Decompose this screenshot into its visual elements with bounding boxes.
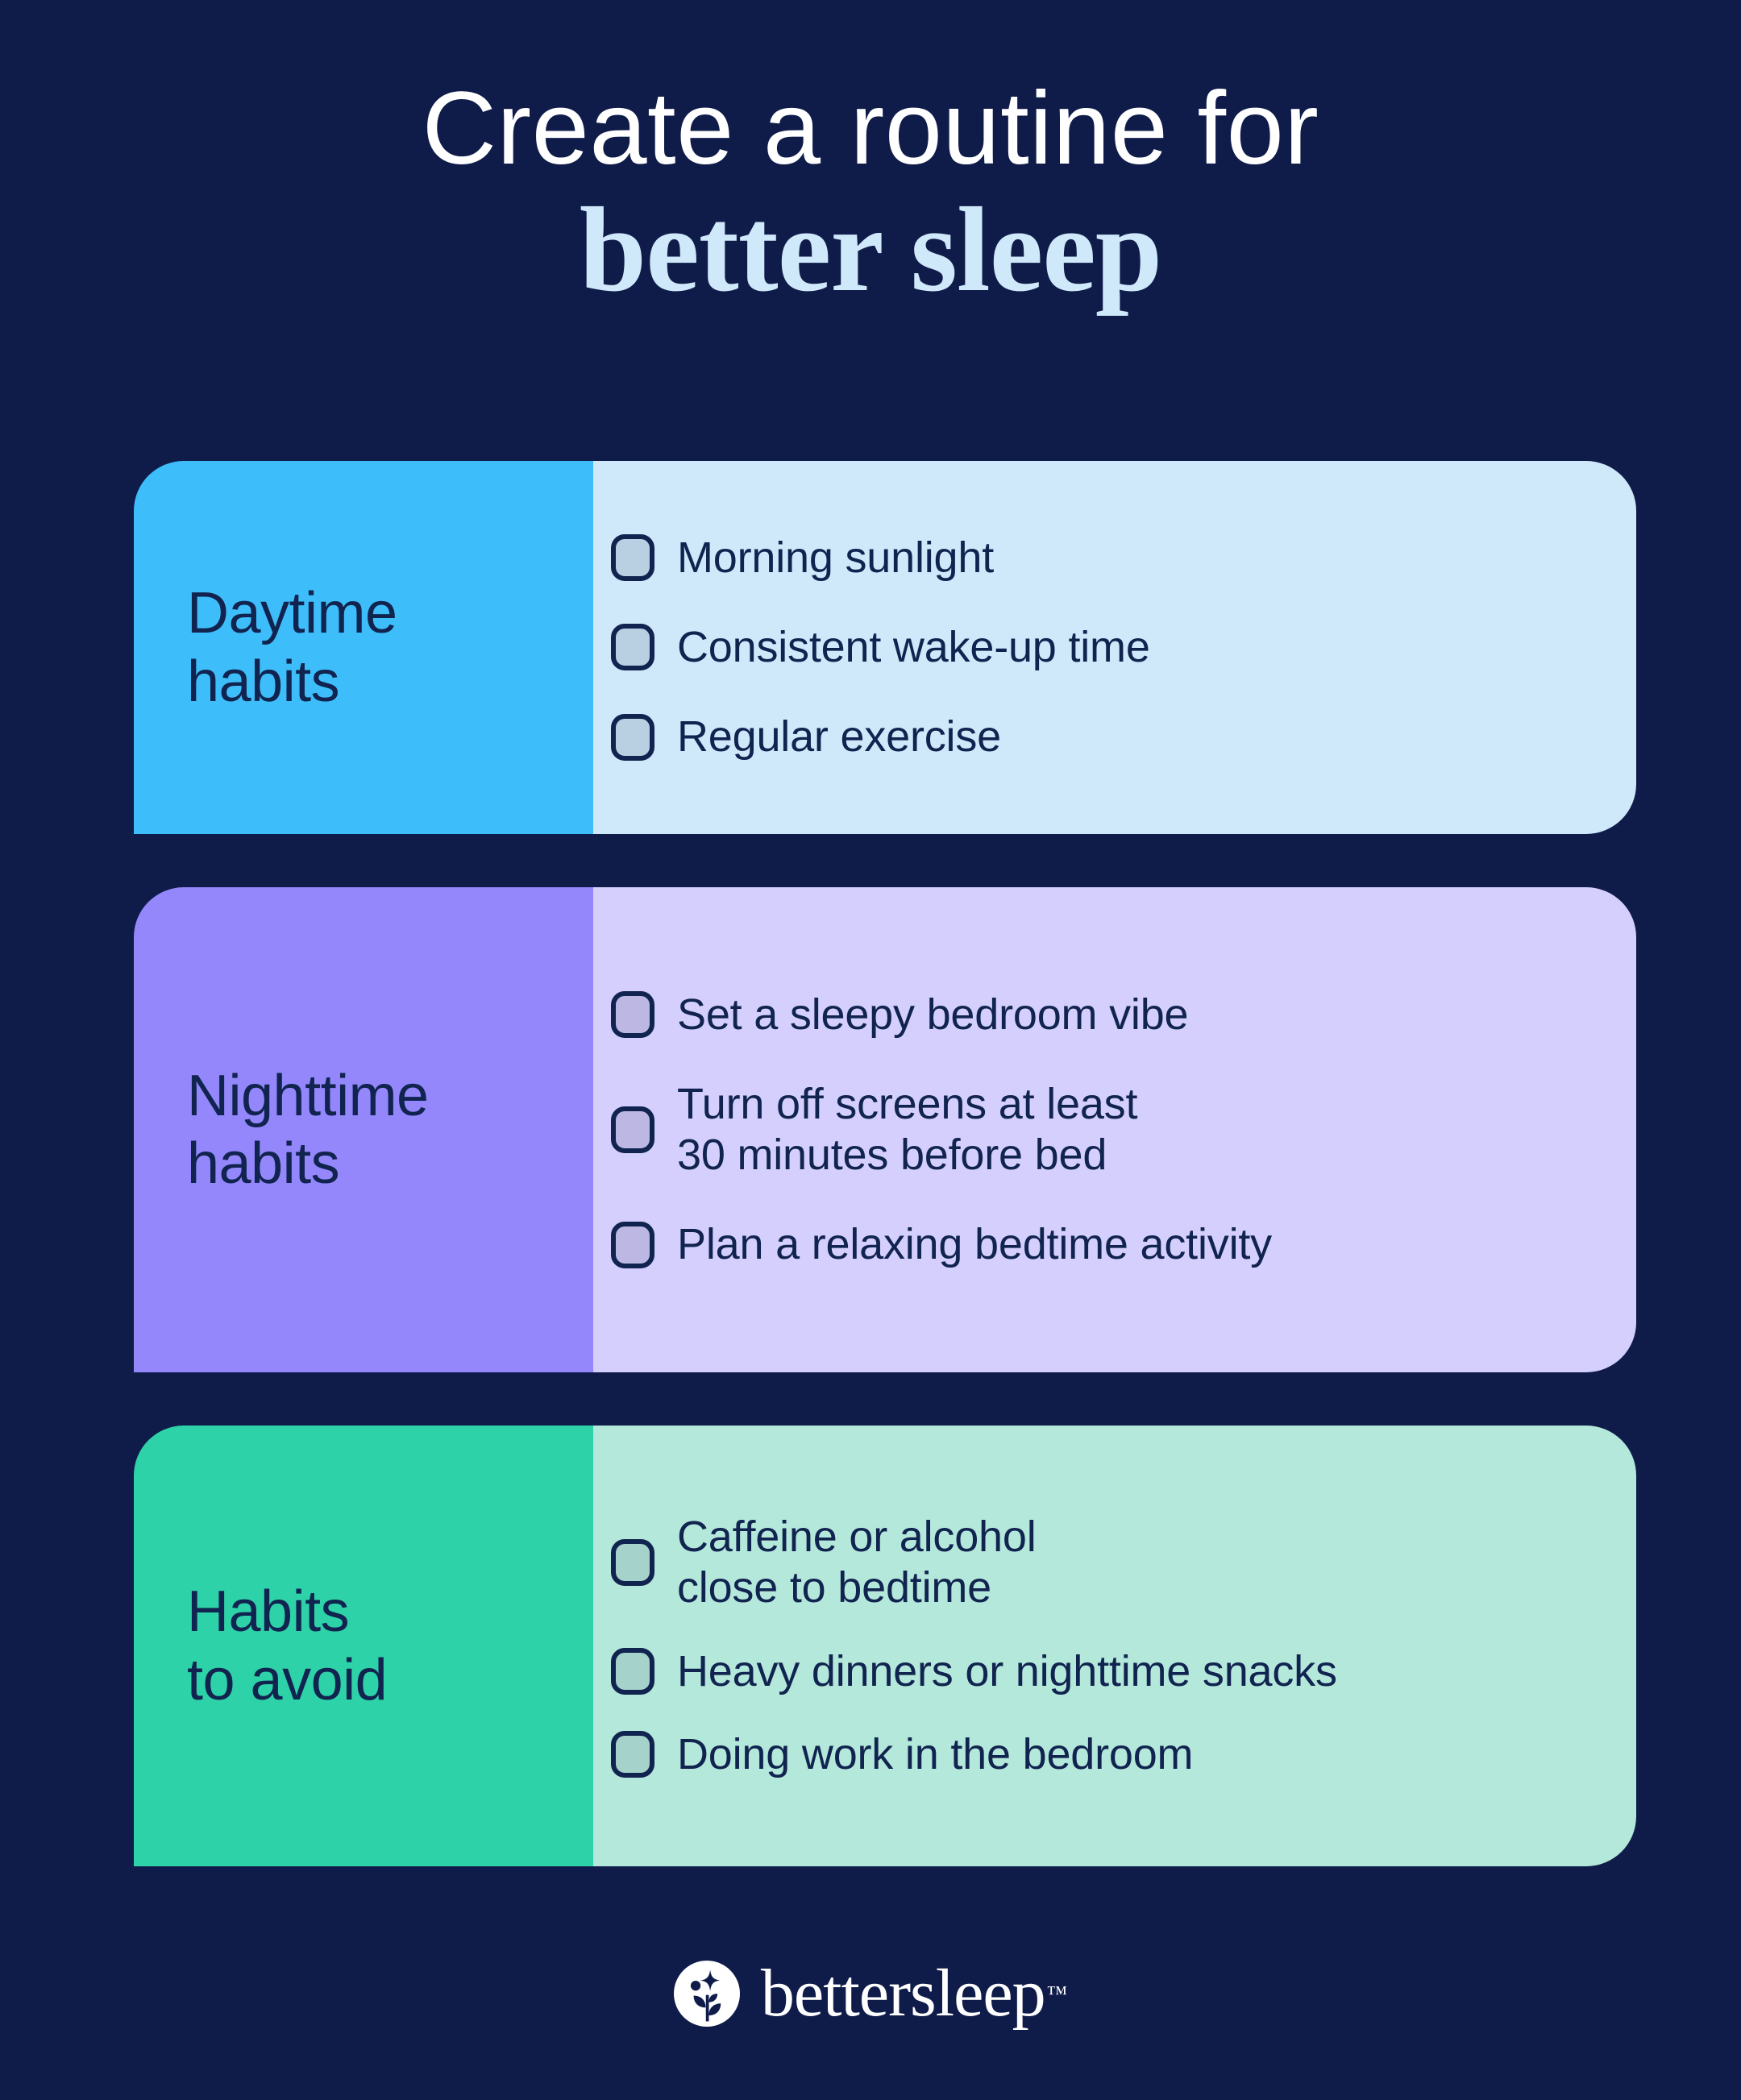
checklist-item[interactable]: Consistent wake-up time (593, 622, 1604, 673)
checkbox-icon[interactable] (611, 1106, 654, 1153)
card-nighttime-habits-heading: Nighttime habits (187, 1062, 429, 1197)
checklist-item[interactable]: Regular exercise (593, 712, 1604, 762)
checkbox-icon[interactable] (611, 534, 654, 581)
checklist-item[interactable]: Plan a relaxing bedtime activity (593, 1219, 1604, 1270)
checklist-item-label: Morning sunlight (677, 533, 994, 583)
checklist-item[interactable]: Heavy dinners or nighttime snacks (593, 1646, 1604, 1697)
checkbox-icon[interactable] (611, 714, 654, 761)
checklist-item-label: Regular exercise (677, 712, 1001, 762)
card-habits-to-avoid: Habits to avoid Caffeine or alcohol clos… (134, 1426, 1636, 1866)
checklist-item-label: Caffeine or alcohol close to bedtime (677, 1512, 1037, 1613)
card-habits-to-avoid-heading: Habits to avoid (187, 1578, 387, 1713)
checklist-item-label: Heavy dinners or nighttime snacks (677, 1646, 1337, 1697)
card-daytime-habits-list: Morning sunlight Consistent wake-up time… (593, 461, 1636, 834)
footer-logo: bettersleep ™ (0, 1960, 1741, 2027)
card-habits-to-avoid-list: Caffeine or alcohol close to bedtime Hea… (593, 1426, 1636, 1866)
card-nighttime-habits-heading-panel: Nighttime habits (134, 887, 593, 1372)
checklist-item-label: Consistent wake-up time (677, 622, 1150, 673)
checkbox-icon[interactable] (611, 1731, 654, 1778)
checkbox-icon[interactable] (611, 991, 654, 1038)
checkbox-icon[interactable] (611, 1539, 654, 1586)
trademark-symbol: ™ (1047, 1982, 1067, 2006)
cards-container: Daytime habits Morning sunlight Consiste… (134, 461, 1636, 1919)
card-nighttime-habits-list: Set a sleepy bedroom vibe Turn off scree… (593, 887, 1636, 1372)
checkbox-icon[interactable] (611, 1648, 654, 1695)
card-daytime-habits: Daytime habits Morning sunlight Consiste… (134, 461, 1636, 834)
card-nighttime-habits: Nighttime habits Set a sleepy bedroom vi… (134, 887, 1636, 1372)
brand-wordmark: bettersleep (761, 1960, 1045, 2027)
checklist-item-label: Doing work in the bedroom (677, 1729, 1193, 1780)
card-daytime-habits-heading-panel: Daytime habits (134, 461, 593, 834)
checklist-item-label: Set a sleepy bedroom vibe (677, 990, 1188, 1040)
infographic-page: Create a routine for better sleep Daytim… (0, 0, 1741, 2100)
checklist-item-label: Plan a relaxing bedtime activity (677, 1219, 1272, 1270)
checkbox-icon[interactable] (611, 1222, 654, 1268)
checklist-item[interactable]: Set a sleepy bedroom vibe (593, 990, 1604, 1040)
page-title-line-1: Create a routine for (0, 74, 1741, 184)
checklist-item[interactable]: Turn off screens at least 30 minutes bef… (593, 1079, 1604, 1181)
card-daytime-habits-heading: Daytime habits (187, 579, 397, 715)
page-title-line-2: better sleep (0, 189, 1741, 312)
bettersleep-sprout-logo-icon (674, 1961, 740, 2027)
checklist-item-label: Turn off screens at least 30 minutes bef… (677, 1079, 1137, 1181)
checklist-item[interactable]: Morning sunlight (593, 533, 1604, 583)
checkbox-icon[interactable] (611, 624, 654, 670)
page-header: Create a routine for better sleep (0, 0, 1741, 312)
card-habits-to-avoid-heading-panel: Habits to avoid (134, 1426, 593, 1866)
checklist-item[interactable]: Caffeine or alcohol close to bedtime (593, 1512, 1604, 1613)
checklist-item[interactable]: Doing work in the bedroom (593, 1729, 1604, 1780)
